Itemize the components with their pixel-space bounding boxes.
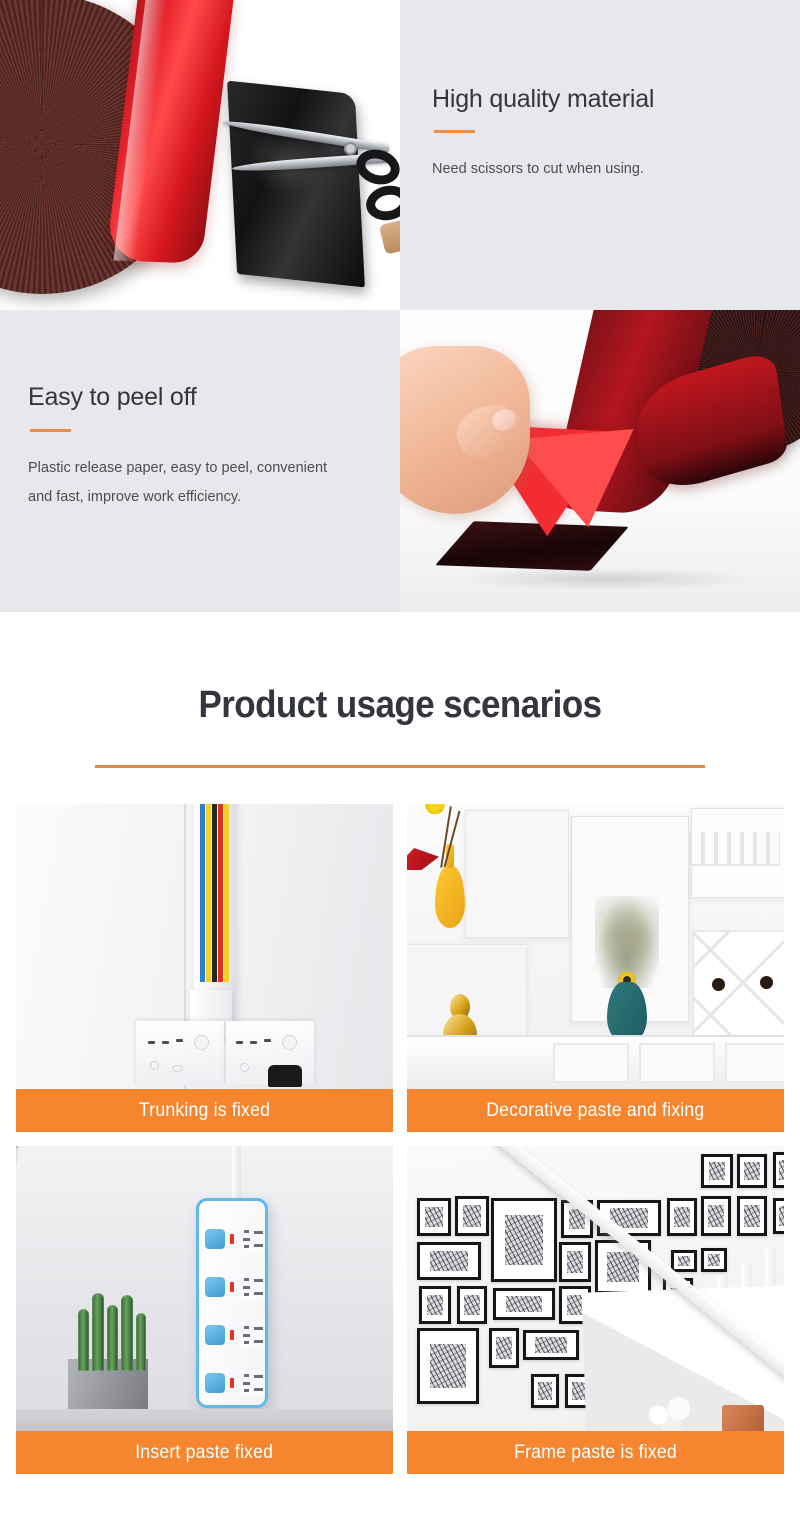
feature-title: Easy to peel off (28, 384, 400, 412)
picture-frame (493, 1288, 555, 1320)
scenario-caption: Insert paste fixed (16, 1431, 393, 1474)
scenario-card-insert[interactable]: Insert paste fixed (16, 1146, 393, 1474)
cabinet-drawer (553, 1043, 629, 1083)
trunking-image (16, 804, 393, 1089)
switch-3 (205, 1325, 225, 1345)
picture-frame (701, 1196, 731, 1236)
cactus-stem (78, 1309, 89, 1371)
picture-frame (491, 1198, 557, 1282)
outlet-2 (239, 1274, 265, 1300)
shelf-ledge (16, 1409, 393, 1431)
power-strip-image (16, 1146, 393, 1431)
switch-4 (205, 1373, 225, 1393)
scenario-caption: Decorative paste and fixing (407, 1089, 784, 1132)
feature-text-high-quality: High quality material Need scissors to c… (400, 0, 800, 310)
picture-frame (419, 1286, 451, 1324)
switch-1 (205, 1229, 225, 1249)
photo-gallery-wall-image (407, 1146, 784, 1431)
feature-body: Plastic release paper, easy to peel, con… (28, 454, 328, 512)
tape-roll-scissors-image (0, 0, 400, 310)
feature-photo-peeling (400, 310, 800, 612)
scissors-grip (379, 219, 400, 254)
wall-socket-left (136, 1021, 224, 1085)
black-plug (268, 1065, 302, 1087)
section-header: Product usage scenarios (0, 612, 800, 768)
wire-red (218, 804, 223, 982)
indicator-led-4 (230, 1378, 234, 1388)
picture-frame (523, 1330, 579, 1360)
scenario-caption: Frame paste is fixed (407, 1431, 784, 1474)
indicator-led-3 (230, 1330, 234, 1340)
decorative-shelf-image (407, 804, 784, 1089)
hanging-glass-rack (688, 832, 780, 866)
scenario-photo (16, 804, 393, 1089)
picture-frame (489, 1328, 519, 1368)
feature-text-easy-peel: Easy to peel off Plastic release paper, … (0, 310, 400, 612)
feature-body: Need scissors to cut when using. (432, 155, 732, 184)
scenario-card-trunking[interactable]: Trunking is fixed (16, 804, 393, 1132)
outlet-3 (239, 1322, 265, 1348)
black-tape-strip (227, 81, 365, 288)
feature-photo-cutting (0, 0, 400, 310)
scenario-caption-text: Trunking is fixed (139, 1100, 270, 1122)
scenario-caption-text: Decorative paste and fixing (486, 1100, 704, 1122)
red-release-paper-highlight (514, 429, 642, 533)
cabinet-drawer (639, 1043, 715, 1083)
picture-frame (417, 1242, 481, 1280)
scenario-photo (407, 1146, 784, 1431)
cactus-stem (121, 1295, 133, 1371)
cactus-stem (92, 1293, 104, 1371)
picture-frame (671, 1250, 697, 1272)
yellow-vase (435, 866, 465, 928)
yellow-flower (422, 804, 448, 814)
picture-frame (737, 1196, 767, 1236)
picture-frame (417, 1328, 479, 1404)
picture-frame (457, 1286, 487, 1324)
picture-frame (455, 1196, 489, 1236)
indicator-led-2 (230, 1282, 234, 1292)
shelf-box-upper-left (465, 810, 569, 938)
wire-yellow (206, 804, 211, 982)
wine-rack (692, 930, 784, 1048)
terracotta-pot (722, 1405, 764, 1431)
wire-bundle (198, 804, 234, 982)
power-strip-body (196, 1198, 268, 1408)
wire-black (212, 804, 217, 982)
scenario-caption-text: Insert paste fixed (136, 1442, 274, 1464)
picture-frame (559, 1242, 591, 1282)
scenario-card-decorative[interactable]: Decorative paste and fixing (407, 804, 784, 1132)
picture-frame (773, 1152, 784, 1188)
wire-blue (200, 804, 205, 982)
power-cord (232, 1146, 241, 1202)
scissors-pivot (344, 142, 357, 155)
picture-frame (701, 1248, 727, 1272)
cactus-stem (107, 1305, 118, 1371)
picture-frame (667, 1198, 697, 1236)
scenario-photo (407, 804, 784, 1089)
picture-frame (701, 1154, 733, 1188)
scenario-card-frame[interactable]: Frame paste is fixed (407, 1146, 784, 1474)
outlet-1 (239, 1226, 265, 1252)
cactus-stem (136, 1313, 146, 1371)
outlet-4 (239, 1370, 265, 1396)
cabinet-drawer (725, 1043, 784, 1083)
feature-title: High quality material (432, 86, 800, 114)
white-flowers (639, 1393, 703, 1431)
scenario-caption-text: Frame paste is fixed (514, 1442, 677, 1464)
feature-highlights: High quality material Need scissors to c… (0, 0, 800, 612)
scenario-caption: Trunking is fixed (16, 1089, 393, 1132)
red-tassel (407, 848, 439, 870)
feature-accent-rule (30, 429, 71, 432)
scissors-handle-lower (363, 182, 400, 224)
scenario-grid: Trunking is fixed (0, 768, 800, 1474)
picture-frame (531, 1374, 559, 1408)
picture-frame (417, 1198, 451, 1236)
surface-shadow (460, 568, 750, 590)
indicator-led-1 (230, 1234, 234, 1244)
feature-accent-rule (434, 130, 475, 133)
wire-yellow-2 (224, 804, 229, 982)
switch-2 (205, 1277, 225, 1297)
picture-frame (773, 1198, 784, 1234)
scenario-photo (16, 1146, 393, 1431)
hand-peeling-liner-image (400, 310, 800, 612)
picture-frame (737, 1154, 767, 1188)
section-title: Product usage scenarios (32, 684, 768, 727)
